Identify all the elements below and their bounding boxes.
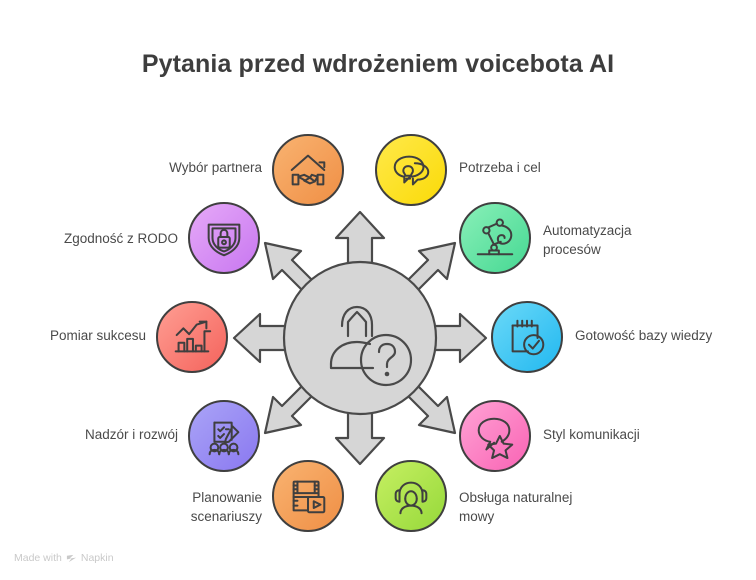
watermark-prefix: Made with [14,552,62,564]
speech-bubble-star-icon [472,413,518,459]
label-obsluga-naturalnej-mowy: Obsługa naturalnej mowy [459,489,674,526]
node-planowanie-scenariuszy[interactable] [272,460,344,532]
label-zgodnosc-z-rodo: Zgodność z RODO [0,230,178,249]
page-title: Pytania przed wdrożeniem voicebota AI [0,50,756,79]
napkin-logo-icon [66,553,77,564]
node-nadzor-i-rozwoj[interactable] [188,400,260,472]
handshake-roof-icon [285,147,331,193]
node-zgodnosc-z-rodo[interactable] [188,202,260,274]
checklist-pencil-people-icon [201,413,247,459]
notepad-check-icon [504,314,550,360]
node-automatyzacja-procesow[interactable] [459,202,531,274]
node-wybor-partnera[interactable] [272,134,344,206]
watermark: Made with Napkin [14,552,114,564]
speech-bubble-lightbulb-icon [388,147,434,193]
hub-arrows-shape [234,212,486,464]
node-styl-komunikacji[interactable] [459,400,531,472]
label-potrzeba-i-cel: Potrzeba i cel [459,159,689,178]
shield-lock-icon [201,215,247,261]
label-planowanie-scenariuszy: Planowanie scenariuszy [60,489,262,526]
label-nadzor-i-rozwoj: Nadzór i rozwój [0,426,178,445]
node-potrzeba-i-cel[interactable] [375,134,447,206]
headset-person-icon [388,473,434,519]
film-strip-play-icon [285,473,331,519]
label-pomiar-sukcesu: Pomiar sukcesu [0,327,146,346]
label-styl-komunikacji: Styl komunikacji [543,426,743,445]
bar-chart-arrow-icon [169,314,215,360]
label-automatyzacja-procesow: Automatyzacja procesów [543,222,743,259]
label-gotowosc-bazy-wiedzy: Gotowość bazy wiedzy [575,327,756,346]
label-wybor-partnera: Wybór partnera [40,159,262,178]
node-gotowosc-bazy-wiedzy[interactable] [491,301,563,373]
central-hub [230,208,490,468]
robot-arm-icon [472,215,518,261]
node-obsluga-naturalnej-mowy[interactable] [375,460,447,532]
infographic-canvas: Pytania przed wdrożeniem voicebota AI [0,0,756,580]
node-pomiar-sukcesu[interactable] [156,301,228,373]
watermark-brand: Napkin [81,552,114,564]
